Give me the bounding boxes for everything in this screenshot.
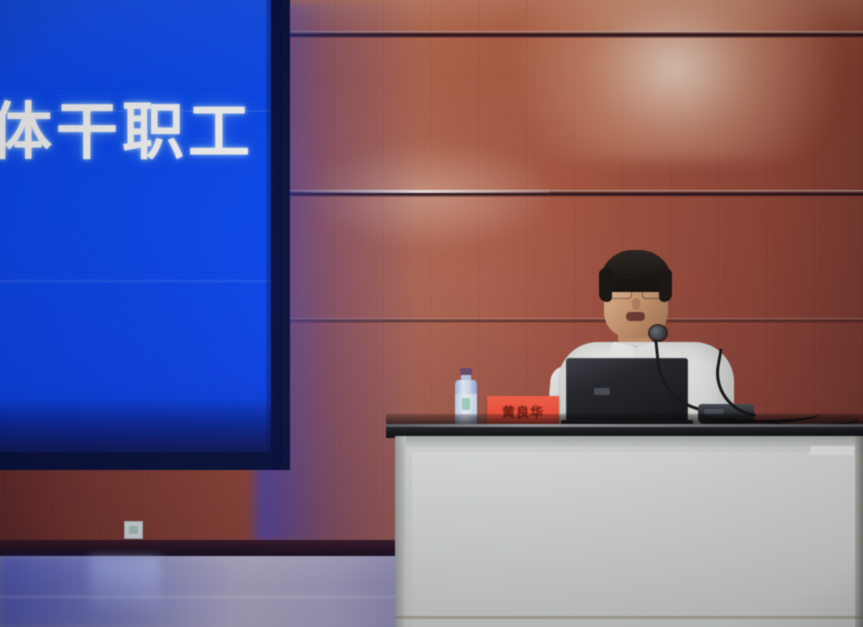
presenter-hair-left [599,268,612,302]
led-screen-frame: 全体干职工 [0,0,290,470]
ceiling-light-bloom [510,0,840,160]
bottle-label-mark [462,398,470,410]
bottle-label [455,394,477,416]
floor-seam-line [0,596,420,598]
led-screen-text: 全体干职工 [0,102,254,164]
podium-left-edge [395,436,406,627]
led-screen-vignette [0,398,271,452]
podium-bottom-edge [395,616,863,619]
wall-outlet-plate[interactable] [124,521,143,539]
podium-right-edge [855,436,863,627]
table-top-highlight [386,424,863,427]
podium-front-panel [412,452,863,627]
led-pixel-grid [0,0,271,452]
podium-top-band [395,436,863,447]
led-module-seam-2 [0,280,271,282]
led-display-screen[interactable]: 全体干职工 [0,0,271,452]
laptop-logo [594,388,610,395]
wall-outlet-socket [129,526,138,534]
microphone-head-icon [650,326,666,340]
floor-blue-light [0,556,250,627]
led-screen-right-bezel [266,0,282,470]
photo-scene: 全体干职工 [0,0,863,627]
presenter-hair-right [659,268,672,302]
podium-paper-sheet [809,446,856,455]
